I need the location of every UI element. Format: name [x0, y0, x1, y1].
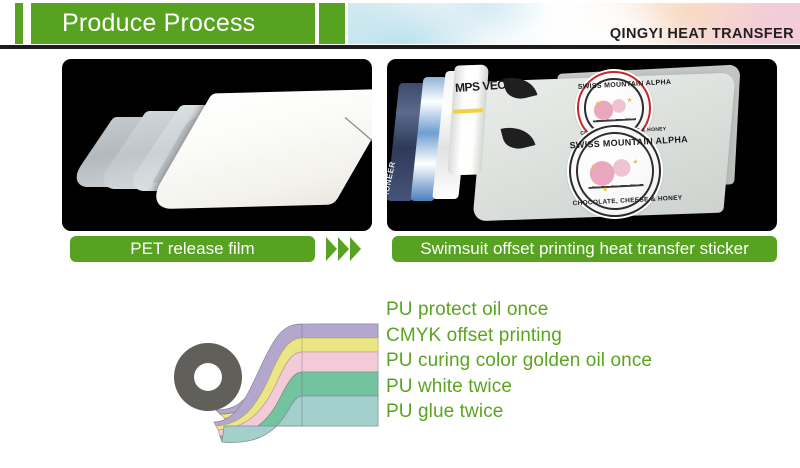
layer-label-pu-glue-twice: PU glue twice	[386, 399, 652, 425]
header-accent-square	[319, 3, 345, 44]
chevron-arrows	[326, 237, 361, 261]
caption-text: PET release film	[130, 239, 254, 259]
layer-label-list: PU protect oil once CMYK offset printing…	[386, 297, 652, 425]
layer-structure-diagram: PU protect oil once CMYK offset printing…	[0, 272, 800, 468]
caption-swimsuit-sticker: Swimsuit offset printing heat transfer s…	[392, 236, 777, 262]
badge-star-icon: ★	[632, 158, 639, 166]
header-photo-band: QINGYI HEAT TRANSFER	[348, 3, 800, 44]
page-header: Produce Process QINGYI HEAT TRANSFER	[0, 0, 800, 49]
header-accent-tick	[15, 3, 23, 44]
badge-star-icon: ★	[626, 96, 633, 104]
badge-star-icon: ★	[591, 162, 598, 170]
film-seam-line	[345, 117, 372, 165]
page-title: Produce Process	[31, 9, 255, 38]
layer-label-pu-protect-oil: PU protect oil once	[386, 297, 652, 323]
caption-pet-release-film: PET release film	[70, 236, 315, 262]
photo-panel-swimsuit-sticker: PIONEER MPS VECO SWISS MOUNTAIN ALPHA CH…	[387, 59, 777, 231]
badge-star-icon: ★	[595, 100, 602, 108]
layer-label-pu-curing-golden-oil: PU curing color golden oil once	[386, 348, 652, 374]
page-title-block: Produce Process	[31, 3, 315, 44]
caption-text: Swimsuit offset printing heat transfer s…	[420, 239, 749, 259]
produce-process-page: Produce Process QINGYI HEAT TRANSFER PIO…	[0, 0, 800, 468]
layer-label-cmyk-offset-printing: CMYK offset printing	[386, 323, 652, 349]
photo-panel-pet-release-film	[62, 59, 372, 231]
layer-label-pu-white-twice: PU white twice	[386, 374, 652, 400]
film-roll-hole	[194, 363, 222, 391]
chevron-right-icon	[338, 237, 349, 261]
brand-name: QINGYI HEAT TRANSFER	[610, 26, 794, 42]
chevron-right-icon	[350, 237, 361, 261]
badge-star-icon: ★	[602, 185, 609, 193]
header-divider	[0, 45, 800, 49]
chevron-right-icon	[326, 237, 337, 261]
